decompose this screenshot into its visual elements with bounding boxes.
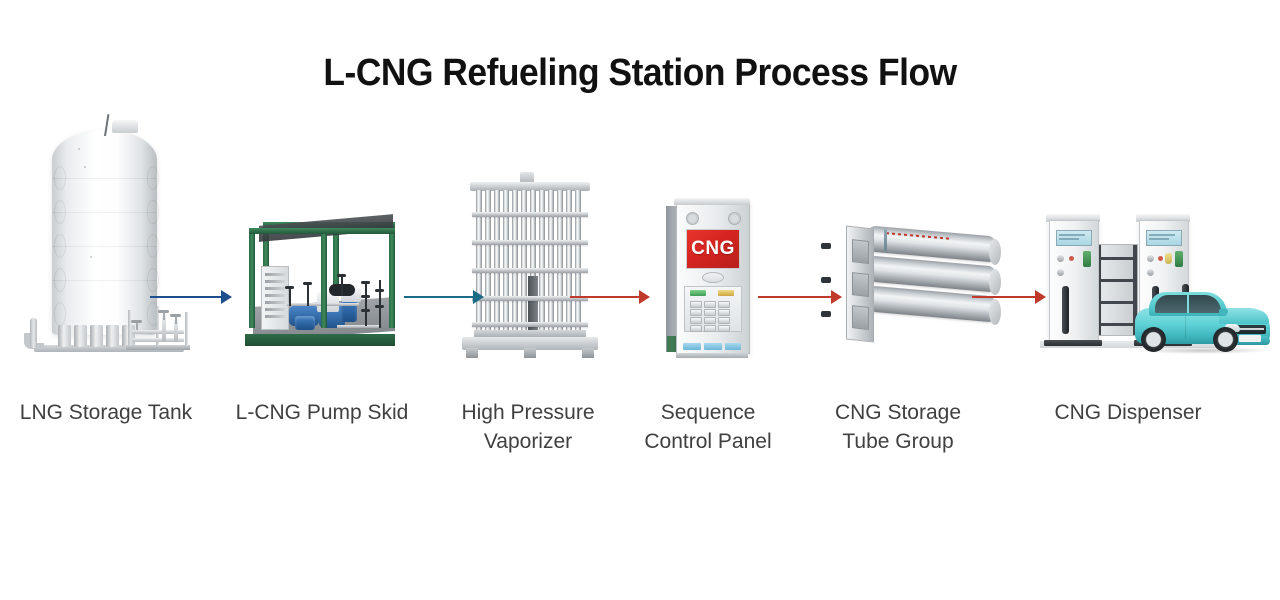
- label-cng-storage-tube-group: CNG Storage Tube Group: [812, 398, 984, 456]
- rack-shelf: [1099, 257, 1135, 260]
- panel-top-cap: [674, 198, 750, 205]
- cabinet-row: [265, 287, 285, 290]
- arrow-head: [473, 290, 484, 304]
- arrow-shaft: [972, 296, 1037, 298]
- arrow-head: [221, 290, 232, 304]
- panel-side-marker: [667, 336, 676, 352]
- vaporizer-finned-tube: [557, 190, 563, 330]
- tank-manway: [112, 120, 138, 133]
- skid-control-cabinet: [261, 266, 289, 330]
- tank-valve-skid: [126, 306, 190, 350]
- vaporizer-foot: [524, 348, 536, 358]
- panel-keypad-key: [704, 309, 716, 316]
- label-line: L-CNG Pump Skid: [219, 398, 425, 427]
- arrow-head: [831, 290, 842, 304]
- dispenser-base-left: [1044, 340, 1102, 346]
- skid-frame-post: [249, 228, 255, 328]
- skid-valve: [303, 282, 312, 285]
- tank-support-leg: [74, 325, 87, 347]
- dispenser-indicator-amber: [1165, 253, 1172, 264]
- tank-ring: [54, 166, 66, 190]
- panel-speaker-grille: [686, 212, 699, 225]
- vaporizer-finned-tube: [503, 190, 509, 330]
- arrow-tubes-to-dispenser: [972, 290, 1046, 304]
- vaporizer-finned-tube: [539, 190, 545, 330]
- panel-cng-display-text: CNG: [691, 238, 735, 260]
- vehicle-grille-chrome: [1238, 328, 1264, 330]
- tank-support-leg: [58, 325, 71, 347]
- vaporizer-support-band: [472, 240, 588, 245]
- cng-dispenser-graphic: [1040, 202, 1270, 362]
- dispenser-display-left: [1056, 230, 1092, 246]
- tank-ring: [147, 234, 159, 258]
- label-line: CNG Dispenser: [1022, 398, 1234, 427]
- skid-frame-post: [389, 228, 395, 328]
- sequence-control-panel-graphic: CNG: [652, 198, 764, 358]
- skid-valve-stem: [379, 280, 381, 328]
- panel-keypad-area: [684, 286, 742, 332]
- rack-shelf: [1099, 323, 1135, 326]
- dispenser-knob[interactable]: [1057, 269, 1064, 276]
- arrow-tank-to-pump: [150, 290, 232, 304]
- vaporizer-finned-tube: [575, 190, 581, 330]
- tank-fitting-dot: [90, 256, 92, 258]
- skid-valve-stem: [289, 288, 291, 306]
- dispenser-hose-left[interactable]: [1062, 286, 1069, 334]
- tube-frame-window: [852, 272, 869, 297]
- dispenser-indicator-green: [1175, 251, 1183, 267]
- tank-ring: [54, 234, 66, 258]
- page-title: L-CNG Refueling Station Process Flow: [45, 52, 1235, 95]
- tank-support-leg: [90, 325, 103, 347]
- vaporizer-finned-tube: [476, 190, 482, 330]
- lng-storage-tank-graphic: [16, 108, 196, 358]
- vaporizer-support-band: [472, 322, 588, 327]
- dispenser-display-right: [1146, 230, 1182, 246]
- tank-fitting-dot: [84, 166, 86, 168]
- arrow-shaft: [404, 296, 475, 298]
- panel-status-led-green: [690, 290, 706, 296]
- vaporizer-finned-tube: [512, 190, 518, 330]
- arrow-shaft: [570, 296, 641, 298]
- display-line: [1059, 238, 1079, 240]
- panel-keypad-key: [718, 309, 730, 316]
- tube-valve-nipple: [821, 243, 831, 249]
- arrow-vaporizer-to-panel: [570, 290, 650, 304]
- vehicle-door-seam: [1185, 316, 1186, 338]
- dispenser-knob[interactable]: [1147, 255, 1154, 262]
- panel-keypad-key: [718, 325, 730, 332]
- valve-handwheel: [170, 314, 181, 317]
- tank-seam: [52, 178, 157, 179]
- label-line: CNG Storage: [812, 398, 984, 427]
- equipment-row: CNG: [0, 110, 1280, 370]
- tank-ring: [54, 268, 66, 292]
- dispenser-indicator-green: [1083, 251, 1091, 267]
- tank-seam: [52, 280, 157, 281]
- label-lng-storage-tank: LNG Storage Tank: [0, 398, 212, 427]
- skid-valve: [361, 309, 370, 312]
- dispenser-indicator-red: [1069, 256, 1074, 261]
- skid-valve-stem: [307, 284, 309, 306]
- skid-valve: [375, 305, 384, 308]
- arrow-shaft: [150, 296, 223, 298]
- stage-lng-storage-tank: [16, 108, 196, 358]
- skid-pipe: [337, 325, 381, 328]
- panel-keypad-key: [704, 301, 716, 308]
- tube-frame-window: [852, 239, 869, 264]
- tank-shell: [52, 130, 157, 335]
- skid-valve: [361, 295, 370, 298]
- arrow-panel-to-tubes: [758, 290, 842, 304]
- tank-ring: [147, 166, 159, 190]
- dispenser-knob[interactable]: [1057, 255, 1064, 262]
- label-line: Control Panel: [625, 427, 791, 456]
- tube-valve-nipple: [821, 277, 831, 283]
- label-lcng-pump-skid: L-CNG Pump Skid: [219, 398, 425, 427]
- panel-action-button[interactable]: [725, 343, 741, 350]
- panel-logo-oval: [702, 272, 724, 283]
- display-line: [1149, 234, 1175, 236]
- tank-support-leg: [106, 325, 119, 347]
- vaporizer-finned-tube: [494, 190, 500, 330]
- tank-fitting-dot: [78, 148, 80, 150]
- cng-storage-tube-group-graphic: [828, 219, 1003, 354]
- cng-vehicle: [1135, 288, 1270, 354]
- valve-skid-post: [185, 312, 188, 346]
- vaporizer-foot: [466, 348, 478, 358]
- display-line: [1149, 238, 1169, 240]
- vehicle-license-plate: [1239, 335, 1261, 342]
- skid-frame-beam: [249, 228, 395, 234]
- label-line: Tube Group: [812, 427, 984, 456]
- panel-action-button[interactable]: [704, 343, 722, 350]
- vehicle-mirror: [1219, 309, 1228, 314]
- skid-valve: [375, 289, 384, 292]
- tank-ring: [54, 302, 66, 326]
- tank-riser-pipe: [30, 318, 37, 348]
- label-line: Sequence: [625, 398, 791, 427]
- skid-frame-post: [321, 228, 327, 328]
- label-line: Vaporizer: [438, 427, 618, 456]
- skid-valve: [361, 281, 370, 284]
- panel-keypad-key: [690, 325, 702, 332]
- label-cng-dispenser: CNG Dispenser: [1022, 398, 1234, 427]
- panel-status-led-amber: [718, 290, 734, 296]
- panel-keypad-key: [690, 317, 702, 324]
- cryogenic-pump: [295, 316, 315, 330]
- skid-valve-stem: [341, 276, 343, 296]
- label-line: LNG Storage Tank: [0, 398, 212, 427]
- dispenser-indicator-red: [1158, 256, 1163, 261]
- panel-keypad-key: [704, 325, 716, 332]
- valve-stem: [136, 323, 138, 330]
- dispenser-column-left[interactable]: [1049, 220, 1099, 342]
- stage-sequence-control-panel: CNG: [652, 198, 764, 358]
- cabinet-row: [265, 294, 285, 297]
- arrow-head: [1035, 290, 1046, 304]
- skid-base-frame: [245, 334, 395, 346]
- panel-keypad-key: [690, 309, 702, 316]
- panel-action-button[interactable]: [683, 343, 701, 350]
- lcng-pump-skid-graphic: [237, 212, 412, 352]
- valve-handwheel: [131, 320, 142, 323]
- panel-base: [676, 353, 748, 358]
- skid-valve: [337, 274, 346, 277]
- valve-stem: [163, 313, 165, 320]
- valve-stem: [175, 317, 177, 324]
- cabinet-row: [265, 273, 285, 276]
- arrow-pump-to-vaporizer: [404, 290, 484, 304]
- tank-seam: [52, 212, 157, 213]
- cabinet-row: [265, 308, 285, 311]
- process-flow-diagram: L-CNG Refueling Station Process Flow: [0, 0, 1280, 600]
- panel-keypad-key: [704, 317, 716, 324]
- skid-valve: [285, 286, 294, 289]
- stage-lcng-pump-skid: [237, 212, 412, 352]
- cabinet-row: [265, 280, 285, 283]
- panel-keypad-key: [718, 301, 730, 308]
- tank-seam: [52, 246, 157, 247]
- arrow-head: [639, 290, 650, 304]
- stage-cng-storage-tube-group: [828, 219, 1003, 354]
- rack-shelf: [1099, 279, 1135, 282]
- valve-handwheel: [158, 310, 169, 313]
- vehicle-wheel-front: [1213, 327, 1238, 352]
- tube-frame-window: [852, 305, 869, 330]
- panel-keypad-key: [690, 301, 702, 308]
- skid-valve-stem: [365, 282, 367, 326]
- tube-group-end-frame: [846, 226, 874, 343]
- vaporizer-finned-tube: [521, 190, 527, 330]
- valve-skid-post: [128, 310, 131, 346]
- tank-ring: [147, 200, 159, 224]
- panel-keypad-key: [718, 317, 730, 324]
- vaporizer-support-band: [472, 212, 588, 217]
- arrow-shaft: [758, 296, 833, 298]
- cng-tube-connection-hose: [884, 229, 887, 251]
- vaporizer-finned-tube: [485, 190, 491, 330]
- display-line: [1059, 234, 1085, 236]
- vaporizer-finned-tube: [548, 190, 554, 330]
- vaporizer-tube-bundle: [476, 190, 584, 330]
- cng-tube-end-cap: [989, 239, 1001, 265]
- cabinet-row: [265, 301, 285, 304]
- tube-valve-nipple: [821, 311, 831, 317]
- label-high-pressure-vaporizer: High Pressure Vaporizer: [438, 398, 618, 456]
- vaporizer-foot: [582, 348, 594, 358]
- stage-high-pressure-vaporizer: [460, 180, 600, 360]
- label-sequence-control-panel: Sequence Control Panel: [625, 398, 791, 456]
- label-line: High Pressure: [438, 398, 618, 427]
- panel-cng-display: CNG: [686, 229, 740, 269]
- vehicle-door-pillar: [1187, 295, 1189, 313]
- vaporizer-support-band: [472, 268, 588, 273]
- cabinet-row: [265, 315, 285, 318]
- panel-speaker-grille: [728, 212, 741, 225]
- high-pressure-vaporizer-graphic: [460, 180, 600, 360]
- vaporizer-finned-tube: [566, 190, 572, 330]
- vehicle-wheel-rear: [1141, 327, 1166, 352]
- dispenser-equipment-rack: [1096, 244, 1138, 336]
- dispenser-knob[interactable]: [1147, 269, 1154, 276]
- rack-shelf: [1099, 301, 1135, 304]
- tank-ring: [147, 268, 159, 292]
- tank-ring: [54, 200, 66, 224]
- stage-cng-dispenser: [1040, 202, 1270, 362]
